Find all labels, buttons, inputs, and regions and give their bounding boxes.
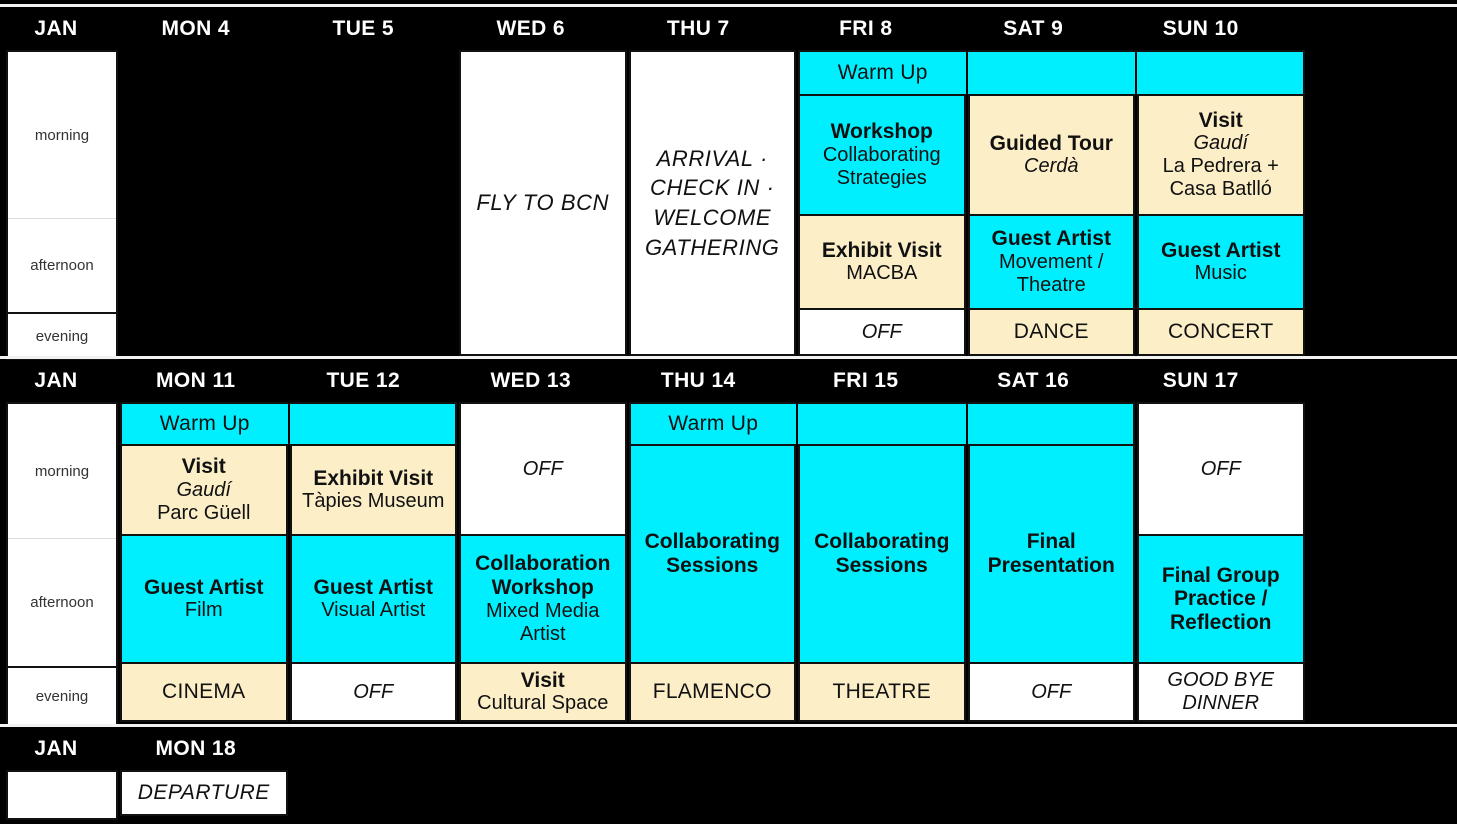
cell-fri-8-morning[interactable]: Workshop Collaborating Strategies xyxy=(798,96,966,216)
warmup-band-mon-11[interactable]: Warm Up xyxy=(120,402,288,446)
warmup-band-sat-16[interactable] xyxy=(968,402,1136,446)
day-header-thu-7: THU 7 xyxy=(615,8,783,50)
day-header-empty-5 xyxy=(950,728,1118,770)
cell-thu-7-arrival[interactable]: ARRIVAL · CHECK IN · WELCOME GATHERING xyxy=(629,50,797,356)
cell-title-workshop: Workshop xyxy=(831,120,933,144)
week-2-time-column: morning afternoon evening xyxy=(6,402,118,726)
cell-sun-17-morning[interactable]: OFF xyxy=(1137,402,1305,536)
week-1-time-column: morning afternoon evening xyxy=(6,50,118,360)
cell-sun-10-morning[interactable]: Visit Gaudí La Pedrera + Casa Batlló xyxy=(1137,96,1305,216)
cell-text-sun-17-off: OFF xyxy=(1201,458,1241,481)
cell-sun-10-evening[interactable]: CONCERT xyxy=(1137,310,1305,356)
cell-text-tue-12-off: OFF xyxy=(353,681,393,704)
time-label-morning-w2: morning xyxy=(8,404,116,538)
day-header-mon-18: MON 18 xyxy=(112,728,280,770)
blocked-cell-w3-3 xyxy=(629,770,797,816)
day-column-fri-15: Collaborating Sessions THEATRE xyxy=(798,402,966,726)
day-header-wed-6: WED 6 xyxy=(447,8,615,50)
day-column-sun-10: Visit Gaudí La Pedrera + Casa Batlló Gue… xyxy=(1137,50,1305,360)
cell-sub-film: Film xyxy=(185,599,223,622)
blocked-cell-w3-1 xyxy=(290,770,458,816)
cell-title-final-group-practice-reflection: Final Group Practice / Reflection xyxy=(1143,564,1299,635)
day-header-empty-1 xyxy=(280,728,448,770)
week-1-section: JAN MON 4 TUE 5 WED 6 THU 7 FRI 8 SAT 9 … xyxy=(0,8,1457,356)
warmup-label-w2-right: Warm Up xyxy=(668,412,758,436)
week-3-header-row: JAN MON 18 xyxy=(0,728,1457,770)
cell-mon-11-evening[interactable]: CINEMA xyxy=(120,664,288,722)
week-1-header-row: JAN MON 4 TUE 5 WED 6 THU 7 FRI 8 SAT 9 … xyxy=(0,8,1457,50)
cell-title-exhibit-visit: Exhibit Visit xyxy=(822,239,942,263)
cell-mon-18-departure[interactable]: DEPARTURE xyxy=(120,770,288,816)
cell-text-theatre: THEATRE xyxy=(832,680,931,704)
day-header-wed-13: WED 13 xyxy=(447,360,615,402)
day-column-blank-5 xyxy=(968,770,1136,820)
warmup-label-w2-left: Warm Up xyxy=(160,412,250,436)
day-column-mon-18: DEPARTURE xyxy=(120,770,288,820)
cell-title-guest-artist-sun10: Guest Artist xyxy=(1161,239,1280,263)
cell-text-dance: DANCE xyxy=(1014,320,1089,344)
blocked-cell-w3-5 xyxy=(968,770,1136,816)
cell-tue-12-morning[interactable]: Exhibit Visit Tàpies Museum xyxy=(290,446,458,536)
blocked-cell-tue-5 xyxy=(290,50,458,356)
warmup-band-sun-10[interactable] xyxy=(1137,50,1305,96)
time-label-blank-w3 xyxy=(8,772,116,818)
cell-text-sat-16-off: OFF xyxy=(1031,681,1071,704)
cell-sat-16-evening[interactable]: OFF xyxy=(968,664,1136,722)
cell-fri-15-evening[interactable]: THEATRE xyxy=(798,664,966,722)
week-3-section: JAN MON 18 DEPARTURE xyxy=(0,728,1457,824)
separator-line-top xyxy=(0,4,1457,7)
cell-text-flamenco: FLAMENCO xyxy=(653,680,772,704)
cell-fri-8-afternoon[interactable]: Exhibit Visit MACBA xyxy=(798,216,966,310)
cell-sub-collaborating-strategies: Collaborating Strategies xyxy=(804,144,960,190)
cell-text-cinema: CINEMA xyxy=(162,680,245,704)
warmup-band-thu-14[interactable]: Warm Up xyxy=(629,402,797,446)
cell-wed-13-afternoon[interactable]: Collaboration Workshop Mixed Media Artis… xyxy=(459,536,627,664)
schedule-page: JAN MON 4 TUE 5 WED 6 THU 7 FRI 8 SAT 9 … xyxy=(0,0,1457,824)
day-column-wed-13: OFF Collaboration Workshop Mixed Media A… xyxy=(459,402,627,726)
cell-text-wed-13-off: OFF xyxy=(523,458,563,481)
cell-fri-15-sessions[interactable]: Collaborating Sessions xyxy=(798,446,966,664)
cell-text-arrival-checkin-welcome: ARRIVAL · CHECK IN · WELCOME GATHERING xyxy=(635,144,791,263)
time-label-evening-w2: evening xyxy=(8,666,116,724)
cell-tue-12-afternoon[interactable]: Guest Artist Visual Artist xyxy=(290,536,458,664)
cell-sub-movement-theatre: Movement / Theatre xyxy=(974,251,1130,297)
week-2-section: JAN MON 11 TUE 12 WED 13 THU 14 FRI 15 S… xyxy=(0,360,1457,724)
day-header-empty-3 xyxy=(615,728,783,770)
day-column-thu-7: ARRIVAL · CHECK IN · WELCOME GATHERING xyxy=(629,50,797,360)
week-1-body: morning afternoon evening FLY TO BCN xyxy=(0,50,1457,356)
time-label-morning: morning xyxy=(8,52,116,218)
cell-sat-16-final-presentation[interactable]: Final Presentation xyxy=(968,446,1136,664)
cell-sat-9-afternoon[interactable]: Guest Artist Movement / Theatre xyxy=(968,216,1136,310)
cell-wed-6-fly[interactable]: FLY TO BCN xyxy=(459,50,627,356)
cell-title-visit-sun10: Visit xyxy=(1199,109,1243,133)
day-header-empty-2 xyxy=(447,728,615,770)
cell-fri-8-evening[interactable]: OFF xyxy=(798,310,966,356)
cell-thu-14-evening[interactable]: FLAMENCO xyxy=(629,664,797,722)
cell-title-guest-artist-tue12: Guest Artist xyxy=(314,576,433,600)
cell-sub-parc-guell: Parc Güell xyxy=(157,502,250,525)
week-2-body: morning afternoon evening Warm Up Visit … xyxy=(0,402,1457,722)
cell-mon-11-morning[interactable]: Visit Gaudí Parc Güell xyxy=(120,446,288,536)
cell-wed-13-morning[interactable]: OFF xyxy=(459,402,627,536)
cell-title-collaborating-sessions-thu14: Collaborating Sessions xyxy=(635,530,791,577)
day-header-mon-4: MON 4 xyxy=(112,8,280,50)
cell-sub-cerda: Cerdà xyxy=(1024,155,1078,178)
day-header-sun-17: SUN 17 xyxy=(1117,360,1285,402)
day-column-blank-2 xyxy=(459,770,627,820)
day-column-blank-6 xyxy=(1137,770,1305,820)
day-header-empty-6 xyxy=(1117,728,1285,770)
week-3-time-column xyxy=(6,770,118,820)
cell-sub-mixed-media-artist: Mixed Media Artist xyxy=(465,600,621,646)
cell-sub-gaudi-mon11: Gaudí xyxy=(177,479,231,502)
day-column-mon-11: Warm Up Visit Gaudí Parc Güell Guest Art… xyxy=(120,402,288,726)
warmup-band-sat-9[interactable] xyxy=(968,50,1136,96)
cell-title-guest-artist-mon11: Guest Artist xyxy=(144,576,263,600)
month-label-week-3: JAN xyxy=(0,728,112,770)
cell-text-concert: CONCERT xyxy=(1168,320,1274,344)
day-header-sat-9: SAT 9 xyxy=(950,8,1118,50)
cell-title-guest-artist-sat9: Guest Artist xyxy=(992,227,1111,251)
day-header-sat-16: SAT 16 xyxy=(950,360,1118,402)
day-column-mon-4 xyxy=(120,50,288,360)
cell-sun-10-afternoon[interactable]: Guest Artist Music xyxy=(1137,216,1305,310)
cell-sub-macba: MACBA xyxy=(846,262,917,285)
day-header-sun-10: SUN 10 xyxy=(1117,8,1285,50)
cell-title-collaborating-sessions-fri15: Collaborating Sessions xyxy=(804,530,960,577)
day-header-fri-8: FRI 8 xyxy=(782,8,950,50)
month-label-week-2: JAN xyxy=(0,360,112,402)
day-header-thu-14: THU 14 xyxy=(615,360,783,402)
warmup-band-fri-8[interactable]: Warm Up xyxy=(798,50,966,96)
day-header-fri-15: FRI 15 xyxy=(782,360,950,402)
day-header-mon-11: MON 11 xyxy=(112,360,280,402)
day-header-tue-12: TUE 12 xyxy=(280,360,448,402)
cell-title-visit-wed13: Visit xyxy=(521,669,565,693)
week-2-header-row: JAN MON 11 TUE 12 WED 13 THU 14 FRI 15 S… xyxy=(0,360,1457,402)
warmup-label-w1: Warm Up xyxy=(838,61,928,85)
cell-sun-17-evening[interactable]: GOOD BYE DINNER xyxy=(1137,664,1305,722)
cell-sub-music: Music xyxy=(1195,262,1247,285)
cell-sub-tapies-museum: Tàpies Museum xyxy=(302,490,444,513)
cell-sun-17-afternoon[interactable]: Final Group Practice / Reflection xyxy=(1137,536,1305,664)
cell-text-good-bye-dinner: GOOD BYE DINNER xyxy=(1143,669,1299,715)
week-3-body: DEPARTURE xyxy=(0,770,1457,820)
cell-title-exhibit-visit-tue12: Exhibit Visit xyxy=(313,467,433,491)
day-column-thu-14: Warm Up Collaborating Sessions FLAMENCO xyxy=(629,402,797,726)
cell-tue-12-evening[interactable]: OFF xyxy=(290,664,458,722)
cell-sub-gaudi-sun10: Gaudí xyxy=(1194,132,1248,155)
time-label-afternoon-w2: afternoon xyxy=(8,538,116,666)
day-column-blank-3 xyxy=(629,770,797,820)
cell-text-fly-to-bcn: FLY TO BCN xyxy=(476,188,609,218)
time-label-evening: evening xyxy=(8,312,116,358)
cell-wed-13-evening[interactable]: Visit Cultural Space xyxy=(459,664,627,722)
day-column-sun-17: OFF Final Group Practice / Reflection GO… xyxy=(1137,402,1305,726)
day-column-blank-1 xyxy=(290,770,458,820)
time-label-afternoon: afternoon xyxy=(8,218,116,312)
warmup-band-fri-15[interactable] xyxy=(798,402,966,446)
day-column-fri-8: Warm Up Workshop Collaborating Strategie… xyxy=(798,50,966,360)
separator-line-1 xyxy=(0,356,1457,359)
blocked-cell-w3-6 xyxy=(1137,770,1305,816)
day-header-empty-4 xyxy=(782,728,950,770)
day-column-blank-4 xyxy=(798,770,966,820)
cell-title-visit-mon11: Visit xyxy=(182,455,226,479)
day-column-wed-6: FLY TO BCN xyxy=(459,50,627,360)
cell-sat-9-evening[interactable]: DANCE xyxy=(968,310,1136,356)
cell-title-guided-tour: Guided Tour xyxy=(990,132,1113,156)
day-column-tue-12: Exhibit Visit Tàpies Museum Guest Artist… xyxy=(290,402,458,726)
cell-sub-cultural-space: Cultural Space xyxy=(477,692,608,715)
cell-thu-14-sessions[interactable]: Collaborating Sessions xyxy=(629,446,797,664)
cell-sub-visual-artist: Visual Artist xyxy=(321,599,425,622)
cell-text-departure: DEPARTURE xyxy=(138,780,270,805)
day-column-tue-5 xyxy=(290,50,458,360)
cell-title-collaboration-workshop: Collaboration Workshop xyxy=(465,552,621,599)
blocked-cell-w3-4 xyxy=(798,770,966,816)
cell-title-final-presentation: Final Presentation xyxy=(974,530,1130,577)
cell-sat-9-morning[interactable]: Guided Tour Cerdà xyxy=(968,96,1136,216)
day-header-tue-5: TUE 5 xyxy=(280,8,448,50)
cell-sub-la-pedrera-casa-batllo: La Pedrera + Casa Batlló xyxy=(1143,155,1299,201)
blocked-cell-w3-2 xyxy=(459,770,627,816)
day-column-sat-9: Guided Tour Cerdà Guest Artist Movement … xyxy=(968,50,1136,360)
blocked-cell-mon-4 xyxy=(120,50,288,356)
cell-mon-11-afternoon[interactable]: Guest Artist Film xyxy=(120,536,288,664)
cell-text-fri-8-off: OFF xyxy=(862,321,902,344)
month-label-week-1: JAN xyxy=(0,8,112,50)
day-column-sat-16: Final Presentation OFF xyxy=(968,402,1136,726)
warmup-band-tue-12[interactable] xyxy=(290,402,458,446)
separator-line-2 xyxy=(0,724,1457,727)
